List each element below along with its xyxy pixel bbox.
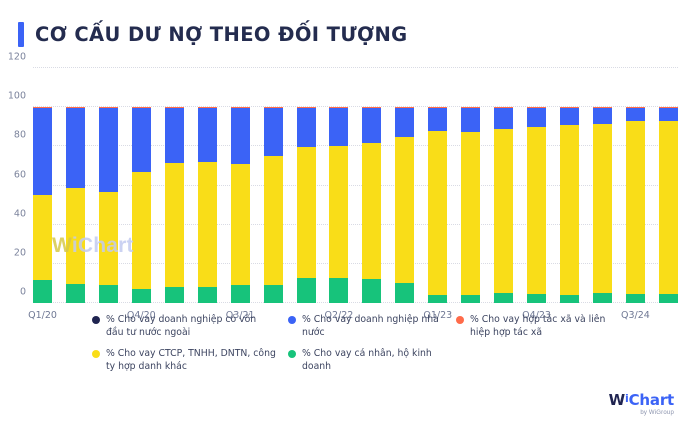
bar-column[interactable] xyxy=(593,68,612,303)
bar-column[interactable]: Q3/24 xyxy=(626,68,645,303)
segment-soe[interactable] xyxy=(494,108,513,128)
segment-corporate[interactable] xyxy=(99,192,118,285)
segment-soe[interactable] xyxy=(165,108,184,162)
segment-corporate[interactable] xyxy=(264,156,283,285)
chart-title: CƠ CẤU DƯ NỢ THEO ĐỐI TƯỢNG xyxy=(35,23,408,46)
bar-column[interactable]: Q1/23 xyxy=(428,68,447,303)
logo-chart: Chart xyxy=(629,391,674,409)
bar-series-group: Q1/20Q4/20Q3/21Q2/22Q1/23Q4/23Q3/24 xyxy=(33,68,678,303)
legend-color-dot xyxy=(92,350,100,358)
segment-corporate[interactable] xyxy=(461,132,480,295)
segment-soe[interactable] xyxy=(593,108,612,124)
segment-soe[interactable] xyxy=(132,108,151,172)
segment-individual[interactable] xyxy=(428,295,447,303)
legend-item[interactable]: % Cho vay doanh nghiệp nhà nước xyxy=(288,314,456,339)
legend-color-dot xyxy=(288,316,296,324)
bar-column[interactable]: Q2/22 xyxy=(329,68,348,303)
segment-soe[interactable] xyxy=(264,108,283,155)
bar-column[interactable] xyxy=(66,68,85,303)
title-accent-bar xyxy=(18,22,24,47)
segment-corporate[interactable] xyxy=(527,127,546,294)
bar-column[interactable] xyxy=(494,68,513,303)
segment-individual[interactable] xyxy=(494,293,513,303)
segment-corporate[interactable] xyxy=(560,125,579,295)
y-axis-tick-label: 20 xyxy=(14,247,26,258)
segment-soe[interactable] xyxy=(329,108,348,146)
segment-soe[interactable] xyxy=(99,108,118,191)
chart-area: 020406080100120 Q1/20Q4/20Q3/21Q2/22Q1/2… xyxy=(0,52,690,307)
segment-individual[interactable] xyxy=(329,278,348,303)
segment-soe[interactable] xyxy=(527,108,546,127)
bar-column[interactable] xyxy=(99,68,118,303)
legend-item-label: % Cho vay hợp tác xã và liên hiệp hợp tá… xyxy=(470,314,612,339)
legend-item[interactable]: % Cho vay CTCP, TNHH, DNTN, công ty hợp … xyxy=(92,348,288,373)
segment-individual[interactable] xyxy=(132,289,151,303)
segment-soe[interactable] xyxy=(659,108,678,121)
segment-soe[interactable] xyxy=(560,108,579,124)
segment-corporate[interactable] xyxy=(66,188,85,285)
segment-corporate[interactable] xyxy=(297,147,316,278)
segment-individual[interactable] xyxy=(362,279,381,303)
segment-soe[interactable] xyxy=(33,108,52,195)
legend-color-dot xyxy=(288,350,296,358)
y-axis-tick-label: 0 xyxy=(20,287,26,298)
chart-legend: % Cho vay doanh nghiệp có vốn đầu tư nướ… xyxy=(92,314,612,376)
segment-corporate[interactable] xyxy=(231,164,250,285)
segment-corporate[interactable] xyxy=(362,143,381,279)
bar-column[interactable] xyxy=(395,68,414,303)
logo-wordmark: WiChart xyxy=(609,393,674,408)
segment-individual[interactable] xyxy=(527,294,546,303)
segment-soe[interactable] xyxy=(231,108,250,164)
segment-corporate[interactable] xyxy=(659,121,678,294)
bar-column[interactable] xyxy=(560,68,579,303)
bar-column[interactable]: Q3/21 xyxy=(231,68,250,303)
segment-soe[interactable] xyxy=(626,108,645,121)
segment-individual[interactable] xyxy=(659,294,678,303)
bar-column[interactable] xyxy=(659,68,678,303)
segment-individual[interactable] xyxy=(33,280,52,304)
bar-column[interactable]: Q1/20 xyxy=(33,68,52,303)
bar-column[interactable]: Q4/20 xyxy=(132,68,151,303)
segment-soe[interactable] xyxy=(66,108,85,187)
legend-item-label: % Cho vay doanh nghiệp nhà nước xyxy=(302,314,456,339)
bar-column[interactable] xyxy=(297,68,316,303)
segment-individual[interactable] xyxy=(66,284,85,303)
y-axis-tick-label: 40 xyxy=(14,208,26,219)
bar-column[interactable] xyxy=(264,68,283,303)
plot-region: 020406080100120 Q1/20Q4/20Q3/21Q2/22Q1/2… xyxy=(33,68,678,303)
segment-soe[interactable] xyxy=(428,108,447,131)
legend-item[interactable]: % Cho vay hợp tác xã và liên hiệp hợp tá… xyxy=(456,314,612,339)
segment-corporate[interactable] xyxy=(494,129,513,294)
bar-column[interactable]: Q4/23 xyxy=(527,68,546,303)
segment-soe[interactable] xyxy=(395,108,414,136)
segment-individual[interactable] xyxy=(99,285,118,303)
segment-corporate[interactable] xyxy=(428,131,447,295)
segment-soe[interactable] xyxy=(362,108,381,142)
segment-individual[interactable] xyxy=(198,287,217,303)
segment-corporate[interactable] xyxy=(329,146,348,277)
y-axis-tick-label: 60 xyxy=(14,169,26,180)
segment-individual[interactable] xyxy=(560,295,579,303)
legend-color-dot xyxy=(92,316,100,324)
segment-corporate[interactable] xyxy=(33,195,52,279)
segment-corporate[interactable] xyxy=(132,172,151,289)
wichart-logo: WiChart by WiGroup xyxy=(609,393,674,416)
segment-soe[interactable] xyxy=(198,108,217,162)
legend-item-label: % Cho vay cá nhân, hộ kinh doanh xyxy=(302,348,456,373)
segment-individual[interactable] xyxy=(395,283,414,303)
y-axis-tick-label: 100 xyxy=(8,91,26,102)
segment-corporate[interactable] xyxy=(395,137,414,284)
y-axis-tick-label: 80 xyxy=(14,130,26,141)
segment-corporate[interactable] xyxy=(165,163,184,288)
segment-individual[interactable] xyxy=(165,287,184,303)
page-title: CƠ CẤU DƯ NỢ THEO ĐỐI TƯỢNG xyxy=(0,0,690,52)
bar-column[interactable] xyxy=(198,68,217,303)
segment-individual[interactable] xyxy=(461,295,480,303)
segment-soe[interactable] xyxy=(297,108,316,146)
legend-item-label: % Cho vay doanh nghiệp có vốn đầu tư nướ… xyxy=(106,314,276,339)
segment-individual[interactable] xyxy=(297,278,316,303)
logo-subtitle: by WiGroup xyxy=(609,410,674,416)
segment-individual[interactable] xyxy=(593,293,612,303)
legend-item-label: % Cho vay CTCP, TNHH, DNTN, công ty hợp … xyxy=(106,348,276,373)
legend-color-dot xyxy=(456,316,464,324)
y-axis-tick-label: 120 xyxy=(8,52,26,63)
legend-item[interactable]: % Cho vay cá nhân, hộ kinh doanh xyxy=(288,348,456,373)
segment-individual[interactable] xyxy=(231,285,250,303)
x-axis-tick-label: Q3/24 xyxy=(621,310,650,321)
logo-w: W xyxy=(609,391,625,409)
segment-soe[interactable] xyxy=(461,108,480,132)
segment-individual[interactable] xyxy=(626,294,645,303)
legend-item[interactable]: % Cho vay doanh nghiệp có vốn đầu tư nướ… xyxy=(92,314,288,339)
segment-corporate[interactable] xyxy=(626,121,645,294)
bar-column[interactable] xyxy=(461,68,480,303)
bar-column[interactable] xyxy=(362,68,381,303)
segment-corporate[interactable] xyxy=(198,162,217,287)
x-axis-tick-label: Q1/20 xyxy=(28,310,57,321)
bar-column[interactable] xyxy=(165,68,184,303)
segment-corporate[interactable] xyxy=(593,124,612,293)
segment-individual[interactable] xyxy=(264,285,283,303)
